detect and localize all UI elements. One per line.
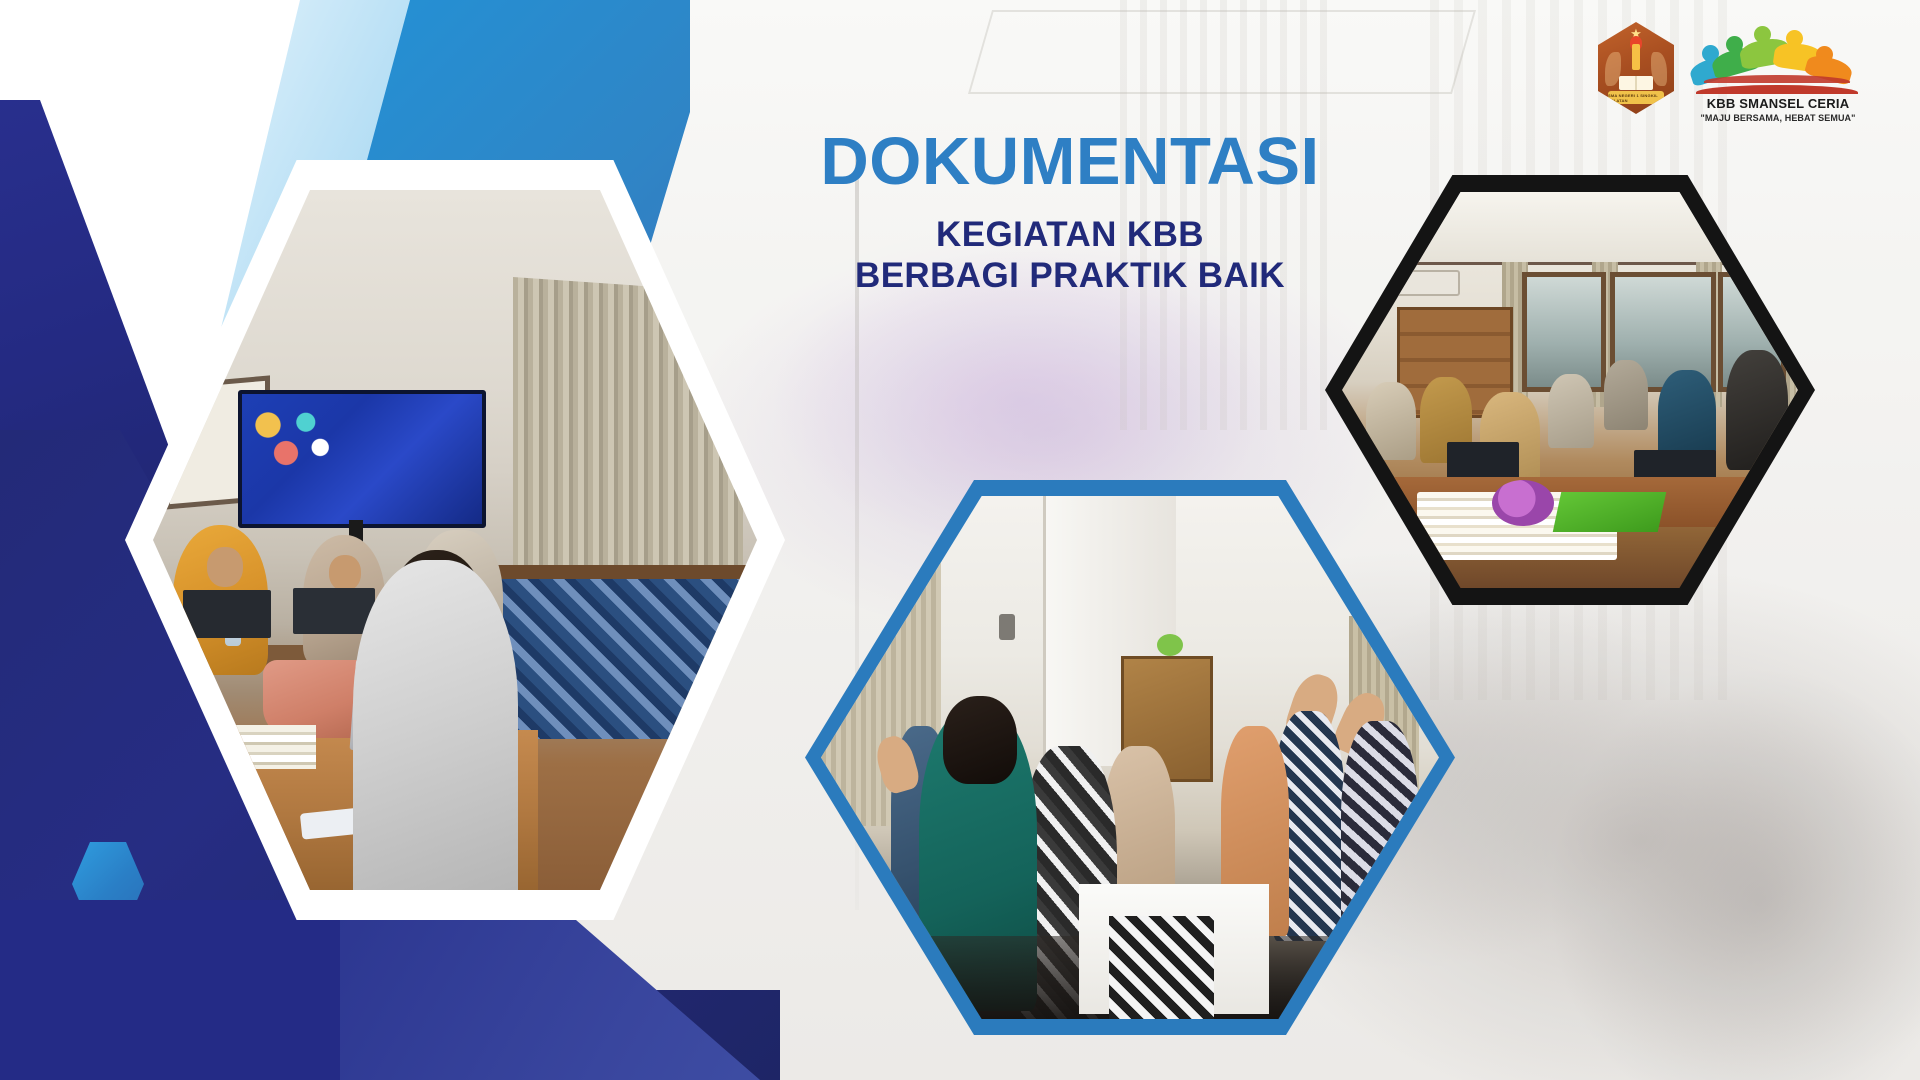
photo-frame-white [125,160,785,920]
photo-hexagon-left [125,160,785,920]
bottom-navy-strip [0,900,340,1080]
open-book-icon [1619,76,1653,90]
page-subtitle-line2: BERBAGI PRAKTIK BAIK [770,256,1370,295]
photo-center-image [821,496,1439,1019]
background-ceiling-line [968,10,1476,94]
photo-hexagon-center [805,480,1455,1035]
page-title: DOKUMENTASI [770,128,1370,195]
page-subtitle-line1: KEGIATAN KBB [770,215,1370,254]
laurel-right-icon [1651,52,1667,86]
poster-canvas: DOKUMENTASI KEGIATAN KBB BERBAGI PRAKTIK… [0,0,1920,1080]
ceria-people-icon [1688,22,1868,94]
school-crest-icon: ★ SMA NEGERI 1 SINGKIL SELATAN [1598,22,1674,114]
community-logo-motto: "MAJU BERSAMA, HEBAT SEMUA" [1688,113,1868,123]
crest-ribbon-label: SMA NEGERI 1 SINGKIL SELATAN [1608,91,1664,104]
photo-frame-blue [805,480,1455,1035]
title-block: DOKUMENTASI KEGIATAN KBB BERBAGI PRAKTIK… [770,128,1370,295]
torch-icon [1632,44,1640,70]
photo-left-image [153,190,757,890]
community-logo: KBB SMANSEL CERIA "MAJU BERSAMA, HEBAT S… [1688,22,1868,123]
community-logo-name: KBB SMANSEL CERIA [1688,96,1868,111]
logo-group: ★ SMA NEGERI 1 SINGKIL SELATAN KBB SMANS… [1598,22,1868,123]
